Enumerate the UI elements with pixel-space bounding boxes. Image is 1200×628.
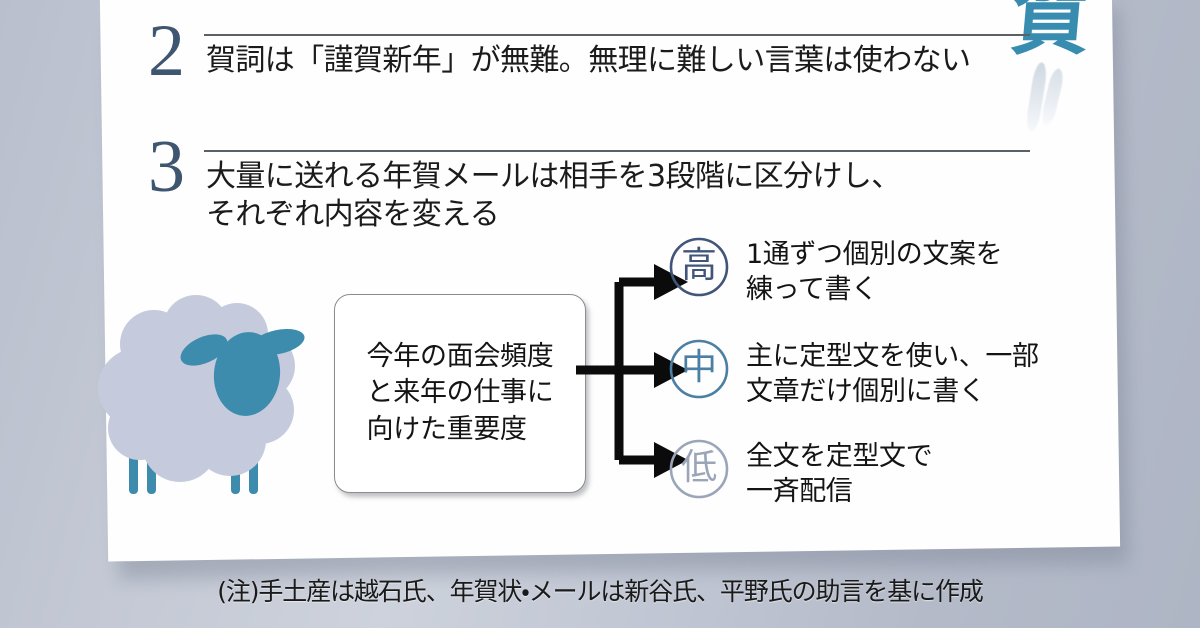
step-3-rule — [204, 150, 1030, 152]
step-2-text: 賀詞は「謹賀新年」が無難。無理に難しい言葉は使わない — [206, 42, 1086, 80]
sheep-illustration — [92, 292, 342, 507]
rank-label-low: 低 — [681, 450, 717, 486]
rank-circle-high: 高 — [668, 236, 730, 298]
criteria-box-text: 今年の面会頻度 と来年の仕事に 向けた重要度 — [367, 339, 554, 448]
outcome-row-high: 高 1通ずつ個別の文案を 練って書く — [668, 236, 1002, 307]
arrow-lines — [576, 282, 660, 460]
step-3-text: 大量に送れる年賀メールは相手を3段階に区分けし、 それぞれ内容を変える — [206, 158, 1086, 234]
rank-label-high: 高 — [681, 248, 717, 284]
criteria-box: 今年の面会頻度 と来年の仕事に 向けた重要度 — [334, 294, 586, 493]
rank-circle-medium: 中 — [668, 338, 730, 400]
outcome-row-medium: 中 主に定型文を使い、一部 文章だけ個別に書く — [668, 338, 1039, 409]
step-2-number: 2 — [148, 14, 184, 88]
rank-circle-low: 低 — [668, 438, 730, 500]
step-2-rule — [204, 34, 1030, 36]
outcome-row-low: 低 全文を定型文で 一斉配信 — [668, 438, 932, 509]
outcome-text-low: 全文を定型文で 一斉配信 — [746, 438, 932, 509]
outcome-text-high: 1通ずつ個別の文案を 練って書く — [746, 236, 1002, 307]
rank-label-medium: 中 — [681, 350, 717, 386]
footnote: (注)手土産は越石氏、年賀状・メールは新谷氏、平野氏の助言を基に作成 — [0, 578, 1200, 606]
step-3-number: 3 — [148, 130, 184, 204]
outcome-text-medium: 主に定型文を使い、一部 文章だけ個別に書く — [746, 338, 1039, 409]
infographic-root: 賀 2 賀詞は「謹賀新年」が無難。無理に難しい言葉は使わない 3 大量に送れる年… — [0, 0, 1200, 628]
